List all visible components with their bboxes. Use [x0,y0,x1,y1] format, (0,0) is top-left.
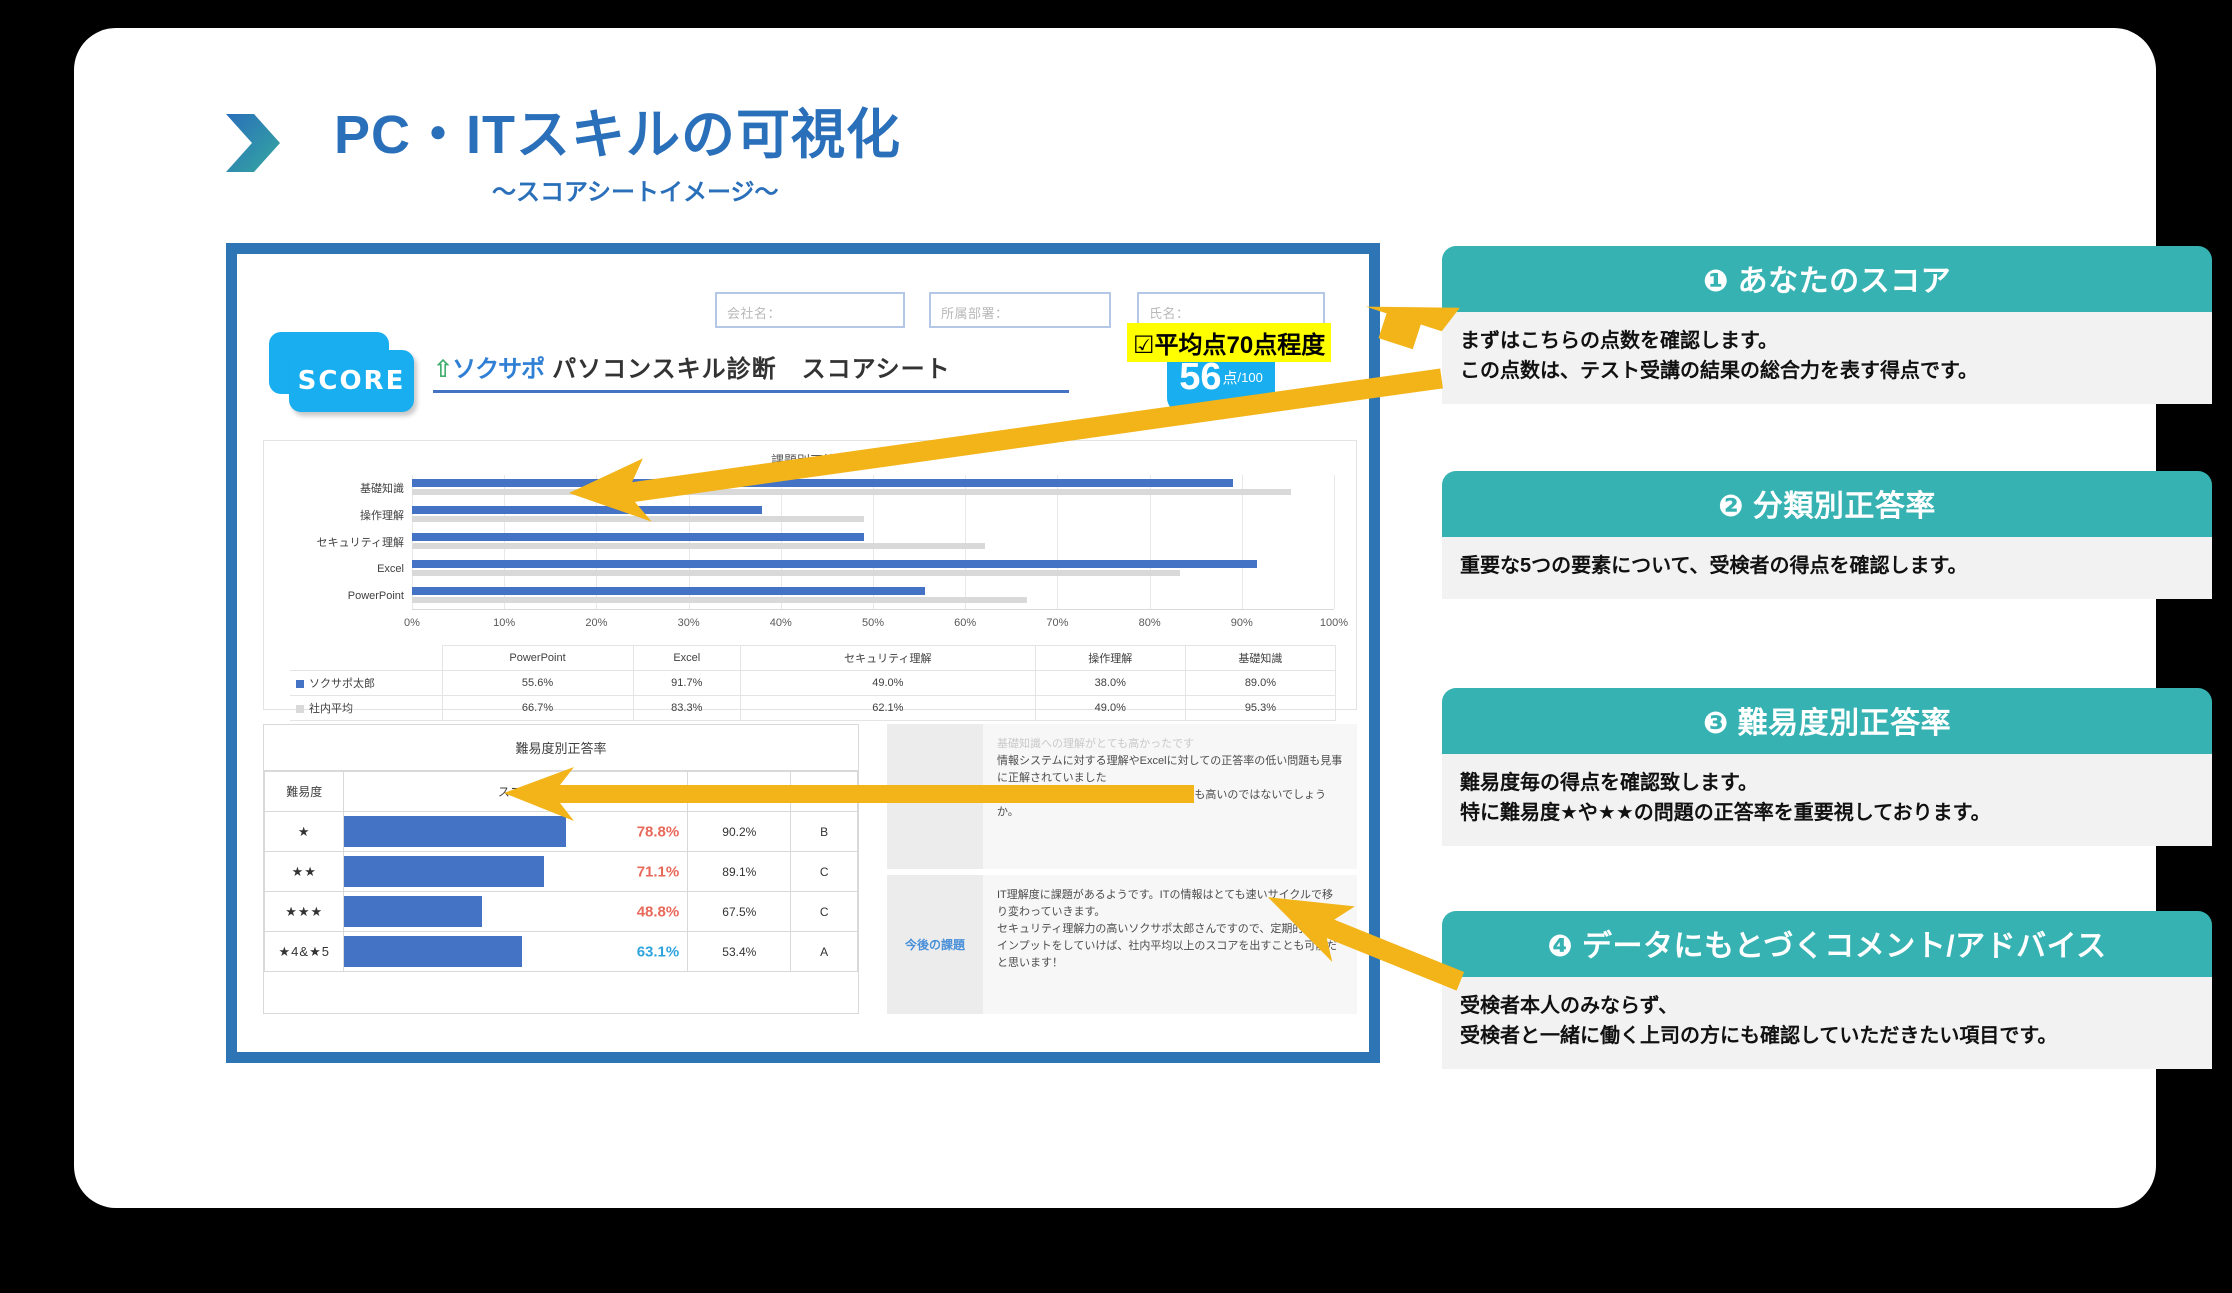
category-legend-table: PowerPointExcelセキュリティ理解操作理解基礎知識 ソクサポ太郎55… [290,645,1336,721]
legend-value-cell: 55.6% [442,671,633,696]
score-value: 56 [1179,358,1221,396]
legend-value-cell: 66.7% [442,696,633,721]
chart-axis-baseline [412,609,1334,610]
sheet-title-underline [433,390,1069,393]
side-card-1-heading: ❶ あなたのスコア [1442,246,2212,312]
slide-canvas: PC・ITスキルの可視化 〜スコアシートイメージ〜 会社名： 所属部署： 氏名：… [74,28,2156,1208]
difficulty-score-bar [344,896,481,927]
side-card-category-accuracy: ❷ 分類別正答率 重要な5つの要素について、受検者の得点を確認します。 [1442,471,2212,599]
chart-x-tick: 50% [862,617,884,629]
chart-bar-average [412,597,1027,603]
difficulty-score-cell: 48.8% [344,892,688,932]
score-sheet-frame: 会社名： 所属部署： 氏名： ☑平均点70点程度 SCORE ⇧ソクサポ パソコ… [226,243,1380,1063]
chart-bar-candidate [412,560,1257,568]
table-row: ★★71.1%89.1%C [265,852,858,892]
comment-faded-line: 基礎知識への理解がとても高かったです [997,736,1343,753]
side-card-3-heading: ❸ 難易度別正答率 [1442,688,2212,754]
score-logo: SCORE [267,332,427,416]
difficulty-score-cell: 71.1% [344,852,688,892]
legend-swatch [296,680,304,688]
department-field[interactable]: 所属部署： [929,292,1111,328]
chart-category-label: 基礎知識 [360,480,404,496]
chart-bar-candidate [412,587,925,595]
legend-value-cell: 62.1% [740,696,1035,721]
page-title: PC・ITスキルの可視化 [334,90,901,169]
legend-table-row: ソクサポ太郎55.6%91.7%49.0%38.0%89.0% [290,671,1336,696]
difficulty-general-rate: 89.1% [688,852,791,892]
side-card-2-heading: ❷ 分類別正答率 [1442,471,2212,537]
chart-x-axis: 0%10%20%30%40%50%60%70%80%90%100% [412,617,1334,637]
legend-column-header: Excel [633,646,740,671]
arrow-to-category-chart [569,433,1469,553]
difficulty-judgement: A [791,932,858,972]
difficulty-column-header: 難易度 [265,772,344,812]
legend-value-cell: 95.3% [1185,696,1335,721]
chart-category-label: 操作理解 [360,507,404,523]
chart-category-label: Excel [377,563,404,575]
score-unit: 点 [1222,367,1237,388]
difficulty-judgement: C [791,852,858,892]
legend-value-cell: 83.3% [633,696,740,721]
chart-x-tick: 30% [678,617,700,629]
difficulty-score-value: 63.1% [637,943,680,960]
legend-value-cell: 38.0% [1035,671,1185,696]
chart-category-label: セキュリティ理解 [317,534,404,550]
difficulty-score-value: 48.8% [637,903,680,920]
chart-x-tick: 70% [1046,617,1068,629]
difficulty-level-cell: ★4&★5 [265,932,344,972]
legend-row-label: 社内平均 [290,696,442,721]
difficulty-score-cell: 63.1% [344,932,688,972]
company-name-field[interactable]: 会社名： [715,292,905,328]
difficulty-general-rate: 67.5% [688,892,791,932]
difficulty-level-stars: ★★ [292,864,317,879]
score-logo-text: SCORE [298,366,406,396]
difficulty-level-cell: ★★★ [265,892,344,932]
comment-label: 今後の課題 [887,875,983,1014]
arrow-to-comments [1254,898,1474,1018]
chart-x-tick: 100% [1320,617,1348,629]
chart-x-tick: 80% [1139,617,1161,629]
chart-x-tick: 0% [404,617,420,629]
difficulty-general-rate: 53.4% [688,932,791,972]
legend-column-header: 基礎知識 [1185,646,1335,671]
legend-column-header: PowerPoint [442,646,633,671]
table-row: ★4&★563.1%53.4%A [265,932,858,972]
chart-x-tick: 20% [585,617,607,629]
brand-logo-text: ⇧ソクサポ [433,349,544,384]
legend-value-cell: 49.0% [740,671,1035,696]
difficulty-level-cell: ★ [265,812,344,852]
legend-corner-cell [290,646,442,671]
page-subtitle: 〜スコアシートイメージ〜 [492,172,779,207]
legend-row-label: ソクサポ太郎 [290,671,442,696]
chart-x-tick: 90% [1231,617,1253,629]
difficulty-level-stars: ★★★ [285,904,323,919]
difficulty-level-stars: ★4&★5 [279,944,330,959]
legend-value-cell: 89.0% [1185,671,1335,696]
difficulty-judgement: C [791,892,858,932]
average-score-annotation: ☑平均点70点程度 [1127,323,1331,362]
chart-x-tick: 40% [770,617,792,629]
difficulty-level-cell: ★★ [265,852,344,892]
side-card-difficulty-accuracy: ❸ 難易度別正答率 難易度毎の得点を確認致します。 特に難易度★や★★の問題の正… [1442,688,2212,846]
side-card-your-score: ❶ あなたのスコア まずはこちらの点数を確認します。 この点数は、テスト受講の結… [1442,246,2212,404]
side-card-1-body: まずはこちらの点数を確認します。 この点数は、テスト受講の結果の総合力を表す得点… [1442,312,2212,404]
legend-value-cell: 49.0% [1035,696,1185,721]
legend-value-cell: 91.7% [633,671,740,696]
side-card-4-heading: ❹ データにもとづくコメント/アドバイス [1442,911,2212,977]
table-row: ★★★48.8%67.5%C [265,892,858,932]
side-card-data-comment: ❹ データにもとづくコメント/アドバイス 受検者本人のみならず、 受検者と一緒に… [1442,911,2212,1069]
difficulty-score-bar [344,936,521,967]
chevron-right-icon [224,112,282,174]
legend-column-header: セキュリティ理解 [740,646,1035,671]
chart-x-tick: 10% [493,617,515,629]
legend-column-header: 操作理解 [1035,646,1185,671]
arrow-to-difficulty-table [504,763,1204,833]
score-logo-front-plate: SCORE [289,350,414,412]
legend-swatch [296,705,304,713]
legend-table-row: 社内平均66.7%83.3%62.1%49.0%95.3% [290,696,1336,721]
chart-x-tick: 60% [954,617,976,629]
legend-table-header-row: PowerPointExcelセキュリティ理解操作理解基礎知識 [290,646,1336,671]
chart-category-label: PowerPoint [348,590,404,602]
chart-bar-average [412,570,1180,576]
difficulty-score-bar [344,856,544,887]
side-card-4-body: 受検者本人のみならず、 受検者と一緒に働く上司の方にも確認していただきたい項目で… [1442,977,2212,1069]
side-card-3-body: 難易度毎の得点を確認致します。 特に難易度★や★★の問題の正答率を重要視しており… [1442,754,2212,846]
side-card-2-body: 重要な5つの要素について、受検者の得点を確認します。 [1442,537,2212,599]
difficulty-level-stars: ★ [298,824,311,839]
sheet-title-text: パソコンスキル診断 スコアシート [552,349,951,384]
difficulty-score-value: 71.1% [637,863,680,880]
sheet-title-block: ⇧ソクサポ パソコンスキル診断 スコアシート [433,349,1073,393]
